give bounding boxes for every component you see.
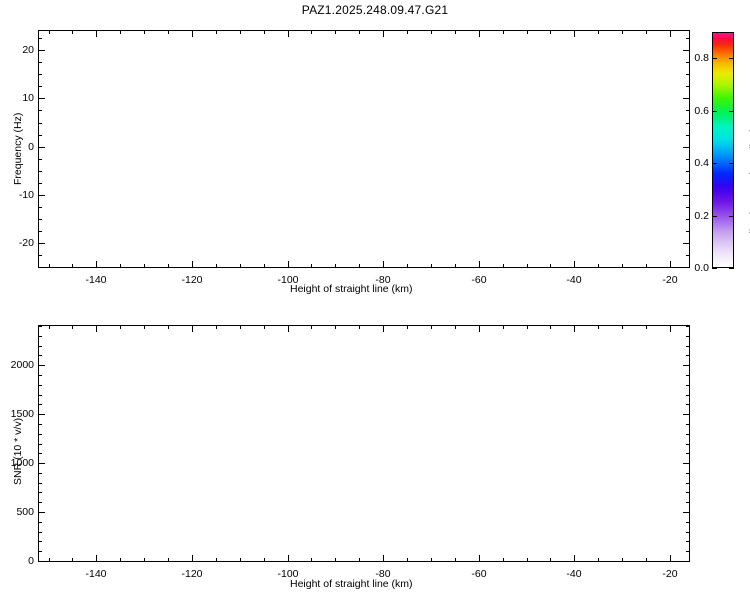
axis-tick [686,231,689,232]
axis-tick [144,31,145,34]
axis-tick [527,326,528,329]
axis-tick [49,558,50,561]
axis-tick [383,326,384,332]
axis-tick [288,31,289,37]
axis-tick [527,558,528,561]
axis-tick [683,50,689,51]
axis-tick [359,558,360,561]
axis-tick [686,207,689,208]
axis-tick [686,434,689,435]
axis-tick [431,558,432,561]
axis-tick [39,561,45,562]
axis-tick [686,483,689,484]
axis-tick [686,532,689,533]
axis-tick [96,261,97,267]
axis-tick [264,558,265,561]
axis-tick [574,31,575,37]
axis-tick [39,483,42,484]
axis-tick [240,326,241,329]
axis-tick [120,31,121,34]
axis-tick [686,135,689,136]
axis-tick [550,326,551,329]
axis-tick [192,326,193,332]
axis-tick [683,243,689,244]
xaxis-tick-label: -120 [181,274,202,286]
axis-tick [96,31,97,37]
snr-yaxis-label: SNR (10 * v/v) [12,418,24,485]
axis-tick [574,326,575,332]
axis-tick [39,502,42,503]
axis-tick [39,355,42,356]
axis-tick [72,31,73,34]
axis-tick [192,261,193,267]
axis-tick [120,558,121,561]
axis-tick [216,326,217,329]
axis-tick [39,98,45,99]
xaxis-tick-label: -40 [566,274,581,286]
axis-tick [683,512,689,513]
axis-tick [49,264,50,267]
axis-tick [712,268,717,269]
axis-tick [683,414,689,415]
axis-tick [383,31,384,37]
axis-tick [683,195,689,196]
axis-tick [264,326,265,329]
axis-tick [39,219,42,220]
axis-tick [72,558,73,561]
colorbar-tick-label: 0.4 [687,157,709,169]
axis-tick [144,558,145,561]
axis-tick [39,532,42,533]
axis-tick [359,326,360,329]
axis-tick [574,261,575,267]
axis-tick [527,31,528,34]
yaxis-tick-label: 10 [4,92,34,104]
axis-tick [39,123,42,124]
axis-tick [527,264,528,267]
axis-tick [96,555,97,561]
axis-tick [39,243,45,244]
axis-tick [455,264,456,267]
axis-tick [72,264,73,267]
axis-tick [712,216,717,217]
axis-tick [39,473,42,474]
axis-tick [192,31,193,37]
axis-tick [550,31,551,34]
axis-tick [686,502,689,503]
axis-tick [686,86,689,87]
snr-xaxis-label: Height of straight line (km) [290,578,413,590]
axis-tick [646,326,647,329]
axis-tick [646,264,647,267]
axis-tick [479,31,480,37]
axis-tick [622,31,623,34]
axis-tick [39,38,42,39]
axis-tick [574,555,575,561]
axis-tick [39,147,45,148]
axis-tick [39,395,42,396]
axis-tick [144,326,145,329]
axis-tick [670,326,671,332]
axis-tick [168,558,169,561]
axis-tick [407,326,408,329]
axis-tick [407,264,408,267]
axis-tick [335,558,336,561]
axis-tick [683,147,689,148]
yaxis-tick-label: 500 [4,506,34,518]
axis-tick [39,365,45,366]
axis-tick [39,551,42,552]
colorbar-gradient [713,33,733,267]
axis-tick [335,264,336,267]
axis-tick [729,58,734,59]
axis-tick [39,463,45,464]
axis-tick [729,111,734,112]
axis-tick [729,268,734,269]
axis-tick [288,555,289,561]
axis-tick [311,31,312,34]
axis-tick [670,261,671,267]
axis-tick [479,261,480,267]
axis-tick [455,326,456,329]
axis-tick [598,558,599,561]
axis-tick [686,473,689,474]
axis-tick [168,264,169,267]
axis-tick [49,326,50,329]
axis-tick [72,326,73,329]
axis-tick [120,264,121,267]
axis-tick [39,434,42,435]
axis-tick [712,163,717,164]
axis-tick [407,31,408,34]
colorbar [712,32,734,268]
axis-tick [686,385,689,386]
axis-tick [729,216,734,217]
axis-tick [335,326,336,329]
axis-tick [431,264,432,267]
colorbar-tick-label: 0.6 [687,105,709,117]
spectrogram-yaxis-label: Frequency (Hz) [12,113,24,185]
axis-tick [359,31,360,34]
axis-tick [686,74,689,75]
xaxis-tick-label: -60 [471,274,486,286]
axis-tick [670,555,671,561]
axis-tick [264,31,265,34]
axis-tick [598,264,599,267]
snr-axes-frame [38,325,690,562]
axis-tick [39,424,42,425]
colorbar-tick-label: 0.0 [687,262,709,274]
axis-tick [503,31,504,34]
axis-tick [168,326,169,329]
axis-tick [192,555,193,561]
axis-tick [168,31,169,34]
axis-tick [335,31,336,34]
xaxis-tick-label: -140 [85,568,106,580]
axis-tick [598,326,599,329]
axis-tick [729,163,734,164]
axis-tick [39,522,42,523]
axis-tick [686,183,689,184]
axis-tick [686,326,689,327]
axis-tick [686,404,689,405]
axis-tick [39,512,45,513]
axis-tick [39,231,42,232]
axis-tick [39,346,42,347]
axis-tick [455,31,456,34]
axis-tick [240,31,241,34]
xaxis-tick-label: -20 [662,568,677,580]
axis-tick [96,326,97,332]
axis-tick [216,558,217,561]
axis-tick [712,58,717,59]
axis-tick [39,110,42,111]
axis-tick [550,558,551,561]
axis-tick [39,135,42,136]
axis-tick [550,264,551,267]
axis-tick [686,123,689,124]
yaxis-tick-label: 20 [4,44,34,56]
xaxis-tick-label: -140 [85,274,106,286]
figure-canvas: PAZ1.2025.248.09.47.G21 -140-120-100-80-… [0,0,750,600]
axis-tick [39,86,42,87]
axis-tick [479,326,480,332]
axis-tick [216,31,217,34]
axis-tick [686,375,689,376]
axis-tick [622,558,623,561]
axis-tick [686,551,689,552]
axis-tick [686,492,689,493]
yaxis-tick-label: -20 [4,237,34,249]
axis-tick [431,326,432,329]
axis-tick [686,255,689,256]
axis-tick [39,541,42,542]
axis-tick [216,264,217,267]
colorbar-tick-label: 0.8 [687,52,709,64]
axis-tick [311,558,312,561]
yaxis-tick-label: 2000 [4,359,34,371]
axis-tick [646,558,647,561]
axis-tick [240,264,241,267]
axis-tick [686,38,689,39]
axis-tick [686,424,689,425]
colorbar-tick-label: 0.2 [687,210,709,222]
axis-tick [311,264,312,267]
axis-tick [39,336,42,337]
axis-tick [144,264,145,267]
axis-tick [503,264,504,267]
spectrogram-xaxis-label: Height of straight line (km) [290,283,413,295]
axis-tick [39,375,42,376]
axis-tick [39,62,42,63]
axis-tick [683,98,689,99]
axis-tick [311,326,312,329]
xaxis-tick-label: -40 [566,568,581,580]
axis-tick [39,171,42,172]
axis-tick [686,541,689,542]
yaxis-tick-label: 0 [4,555,34,567]
axis-tick [288,261,289,267]
axis-tick [39,444,42,445]
axis-tick [503,558,504,561]
axis-tick [383,261,384,267]
axis-tick [39,159,42,160]
axis-tick [686,336,689,337]
axis-tick [39,404,42,405]
xaxis-tick-label: -60 [471,568,486,580]
axis-tick [683,463,689,464]
axis-tick [686,522,689,523]
axis-tick [622,264,623,267]
axis-tick [646,31,647,34]
axis-tick [39,207,42,208]
axis-tick [683,365,689,366]
axis-tick [288,326,289,332]
axis-tick [49,31,50,34]
axis-tick [39,50,45,51]
axis-tick [39,492,42,493]
axis-tick [383,555,384,561]
axis-tick [686,444,689,445]
axis-tick [264,264,265,267]
axis-tick [712,111,717,112]
axis-tick [686,355,689,356]
axis-tick [455,558,456,561]
axis-tick [670,31,671,37]
axis-tick [686,346,689,347]
xaxis-tick-label: -20 [662,274,677,286]
axis-tick [686,453,689,454]
axis-tick [686,395,689,396]
axis-tick [39,453,42,454]
axis-tick [39,74,42,75]
axis-tick [120,326,121,329]
axis-tick [240,558,241,561]
axis-tick [479,555,480,561]
axis-tick [39,255,42,256]
axis-tick [39,414,45,415]
axis-tick [39,183,42,184]
yaxis-tick-label: -10 [4,189,34,201]
axis-tick [39,326,42,327]
axis-tick [503,326,504,329]
axis-tick [359,264,360,267]
axis-tick [407,558,408,561]
axis-tick [39,385,42,386]
axis-tick [39,195,45,196]
axis-tick [686,171,689,172]
axis-tick [683,561,689,562]
axis-tick [39,267,42,268]
axis-tick [431,31,432,34]
spectrogram-axes-frame [38,30,690,268]
axis-tick [622,326,623,329]
axis-tick [598,31,599,34]
xaxis-tick-label: -120 [181,568,202,580]
figure-title: PAZ1.2025.248.09.47.G21 [0,3,750,17]
